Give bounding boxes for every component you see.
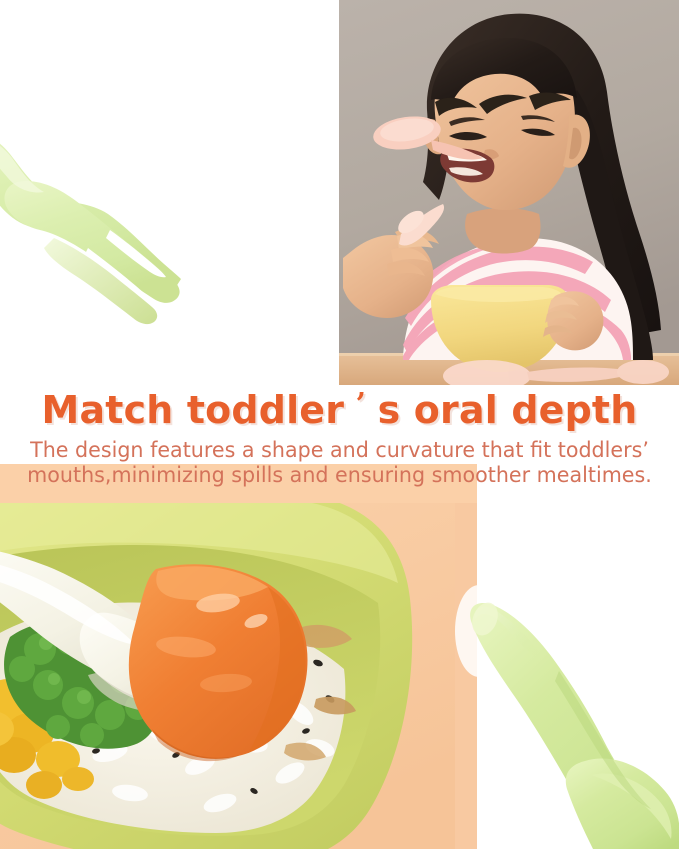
- toddler-scene-vector: [339, 0, 679, 385]
- fork-vector: [0, 78, 258, 338]
- green-spoon-vector: [455, 503, 679, 849]
- subtitle-line-1: The design features a shape and curvatur…: [14, 438, 666, 463]
- spoon-with-carrot-over-bowl-photo: [0, 503, 455, 849]
- toddler-eating-photo: [339, 0, 679, 385]
- green-fork-illustration: [0, 78, 258, 338]
- page-title: Match toddler’s oral depth: [5, 385, 674, 440]
- green-spoon-product-photo: [455, 503, 679, 849]
- product-infographic-poster: Match toddler’s oral depth The design fe…: [0, 0, 679, 849]
- headline-part-before: Match toddler: [42, 388, 345, 433]
- food-scene-vector: [0, 503, 455, 849]
- headline-part-after: s oral depth: [378, 388, 638, 433]
- subtitle-line-2: mouths,minimizing spills and ensuring sm…: [14, 463, 666, 488]
- headline-apostrophe: ’: [344, 385, 377, 431]
- green-fork-product-photo: [0, 0, 337, 385]
- headline-text-block: Match toddler’s oral depth The design fe…: [0, 385, 679, 503]
